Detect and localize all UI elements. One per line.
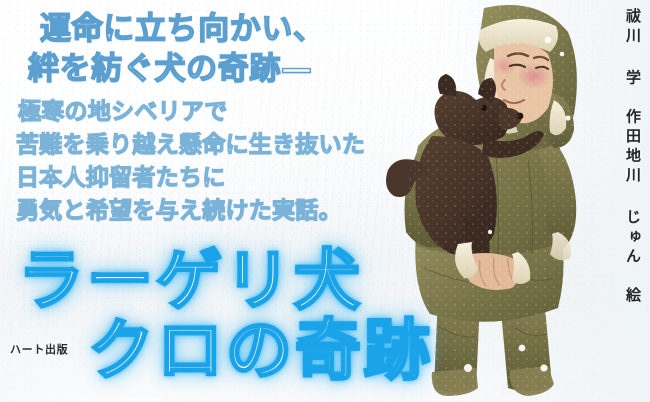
lede-line-3: 日本人抑留者たちに <box>16 167 225 190</box>
headline-line-1: 運命に立ち向かい、 <box>40 14 325 45</box>
book-cover-banner: 運命に立ち向かい、 絆を紡ぐ犬の奇跡— 極寒の地シベリアで 苦難を乗り越え懸命に… <box>0 0 650 402</box>
credit-author: 祓川 学 作 <box>623 8 644 128</box>
lede-line-4: 勇気と希望を与え続けた実話。 <box>16 200 342 223</box>
lede-line-1: 極寒の地シベリアで <box>18 101 227 124</box>
book-title-line-1: ラーゲリ犬 <box>18 248 363 314</box>
publisher-name: ハート出版 <box>10 341 68 357</box>
lede-line-2: 苦難を乗り越え懸命に生き抜いた <box>16 134 365 157</box>
headline-line-2: 絆を紡ぐ犬の奇跡— <box>28 54 313 85</box>
book-title-line-2: クロの奇跡 <box>88 318 433 384</box>
credit-illustrator: 田地川 じゅん 絵 <box>623 128 644 307</box>
